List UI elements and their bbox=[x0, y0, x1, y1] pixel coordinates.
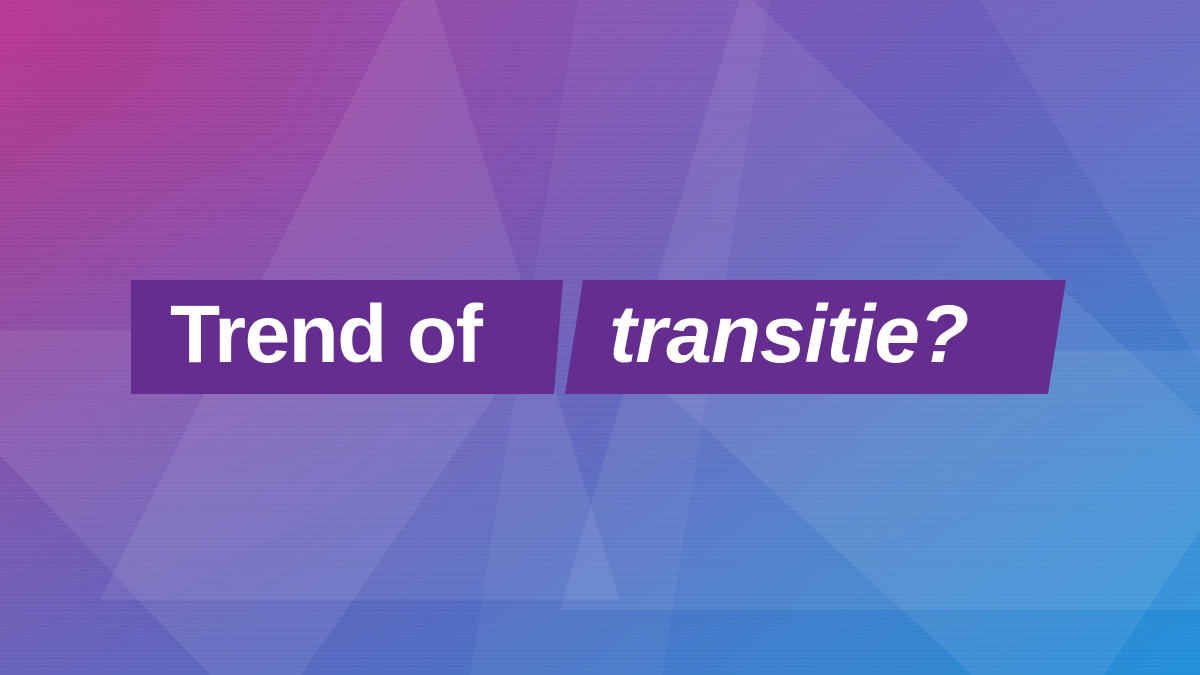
title-banner-group: Trend of transitie? bbox=[0, 280, 1200, 394]
title-banner-secondary: transitie? bbox=[565, 280, 1066, 394]
title-primary-text: Trend of bbox=[170, 294, 481, 376]
title-slide: Trend of transitie? bbox=[0, 0, 1200, 675]
title-banner-primary: Trend of bbox=[131, 280, 563, 394]
title-secondary-text: transitie? bbox=[609, 294, 968, 376]
